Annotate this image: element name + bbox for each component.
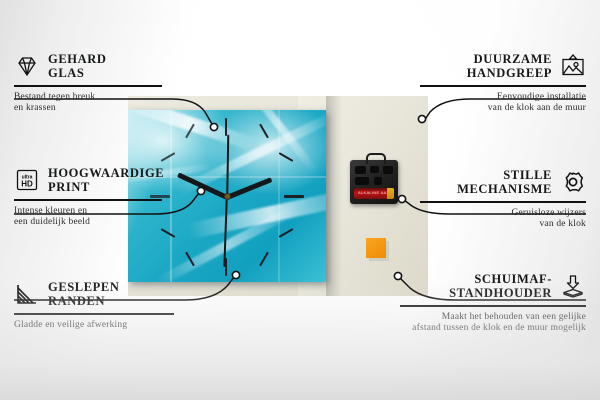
feature-desc-line2: afstand tussen de klok en de muur mogeli… (400, 323, 586, 335)
feature-desc-line2: van de klok (420, 219, 586, 231)
ultra-hd-icon: ultra HD (14, 168, 40, 192)
callout-dot-mechanisme (398, 195, 405, 202)
feature-title-line2: GLAS (48, 66, 106, 80)
feature-title-line2: PRINT (48, 180, 164, 194)
feature-heading: SCHUIMAF- STANDHOUDER (400, 272, 586, 300)
feature-heading: GESLEPEN RANDEN (14, 280, 189, 308)
feature-gehard-glas: GEHARD GLAS Bestand tegen breuk en krass… (14, 52, 174, 115)
feature-duurzame-handgreep: DUURZAME HANDGREEP Eenvoudige installati… (420, 52, 586, 115)
feature-title-line2: HANDGREEP (467, 66, 552, 80)
feature-divider (14, 199, 162, 201)
feature-divider (420, 201, 586, 203)
gear-icon (560, 170, 586, 194)
picture-frame-icon (560, 54, 586, 78)
callout-dot-randen (232, 271, 239, 278)
feature-divider (400, 305, 586, 307)
feature-desc-line1: Eenvoudige installatie (420, 92, 586, 104)
feature-heading: ultra HD HOOGWAARDIGE PRINT (14, 166, 189, 194)
feature-desc-line2: van de klok aan de muur (420, 103, 586, 115)
feature-title-line1: GEHARD (48, 52, 106, 66)
feature-title-line1: GESLEPEN (48, 280, 120, 294)
feature-title-line2: STANDHOUDER (449, 286, 552, 300)
feature-desc-line1: Bestand tegen breuk (14, 92, 174, 104)
callout-dot-print (197, 187, 204, 194)
feature-desc-line1: Geruisloze wijzers (420, 208, 586, 220)
feature-desc-line2: en krassen (14, 103, 174, 115)
feature-heading: STILLE MECHANISME (420, 168, 586, 196)
feature-desc-line1: Gladde en veilige afwerking (14, 320, 189, 332)
feature-title-line1: SCHUIMAF- (449, 272, 552, 286)
feature-title-line1: HOOGWAARDIGE (48, 166, 164, 180)
hatched-edge-icon (14, 282, 40, 306)
feature-title-line1: DUURZAME (467, 52, 552, 66)
feature-desc-line1: Maakt het behouden van een gelijke (400, 312, 586, 324)
svg-text:HD: HD (21, 180, 33, 189)
feature-title-line2: RANDEN (48, 294, 120, 308)
feature-title-line1: STILLE (457, 168, 552, 182)
feature-divider (14, 85, 162, 87)
feature-divider (420, 85, 586, 87)
press-down-pad-icon (560, 274, 586, 298)
diamond-icon (14, 54, 40, 78)
feature-heading: DUURZAME HANDGREEP (420, 52, 586, 80)
feature-desc-line1: Intense kleuren en (14, 206, 189, 218)
feature-heading: GEHARD GLAS (14, 52, 174, 80)
feature-hoogwaardige-print: ultra HD HOOGWAARDIGE PRINT Intense kleu… (14, 166, 189, 229)
callout-dot-handgreep (418, 115, 425, 122)
feature-divider (14, 313, 174, 315)
promo-infographic: ALKALINE AA (0, 0, 600, 400)
feature-desc-line2: een duidelijk beeld (14, 217, 189, 229)
feature-stille-mechanisme: STILLE MECHANISME Geruisloze wijzers van… (420, 168, 586, 231)
feature-schuimafstandhouder: SCHUIMAF- STANDHOUDER Maakt het behouden… (400, 272, 586, 335)
feature-title-line2: MECHANISME (457, 182, 552, 196)
feature-geslepen-randen: GESLEPEN RANDEN Gladde en veilige afwerk… (14, 280, 189, 331)
callout-dot-gehard-glas (210, 123, 217, 130)
